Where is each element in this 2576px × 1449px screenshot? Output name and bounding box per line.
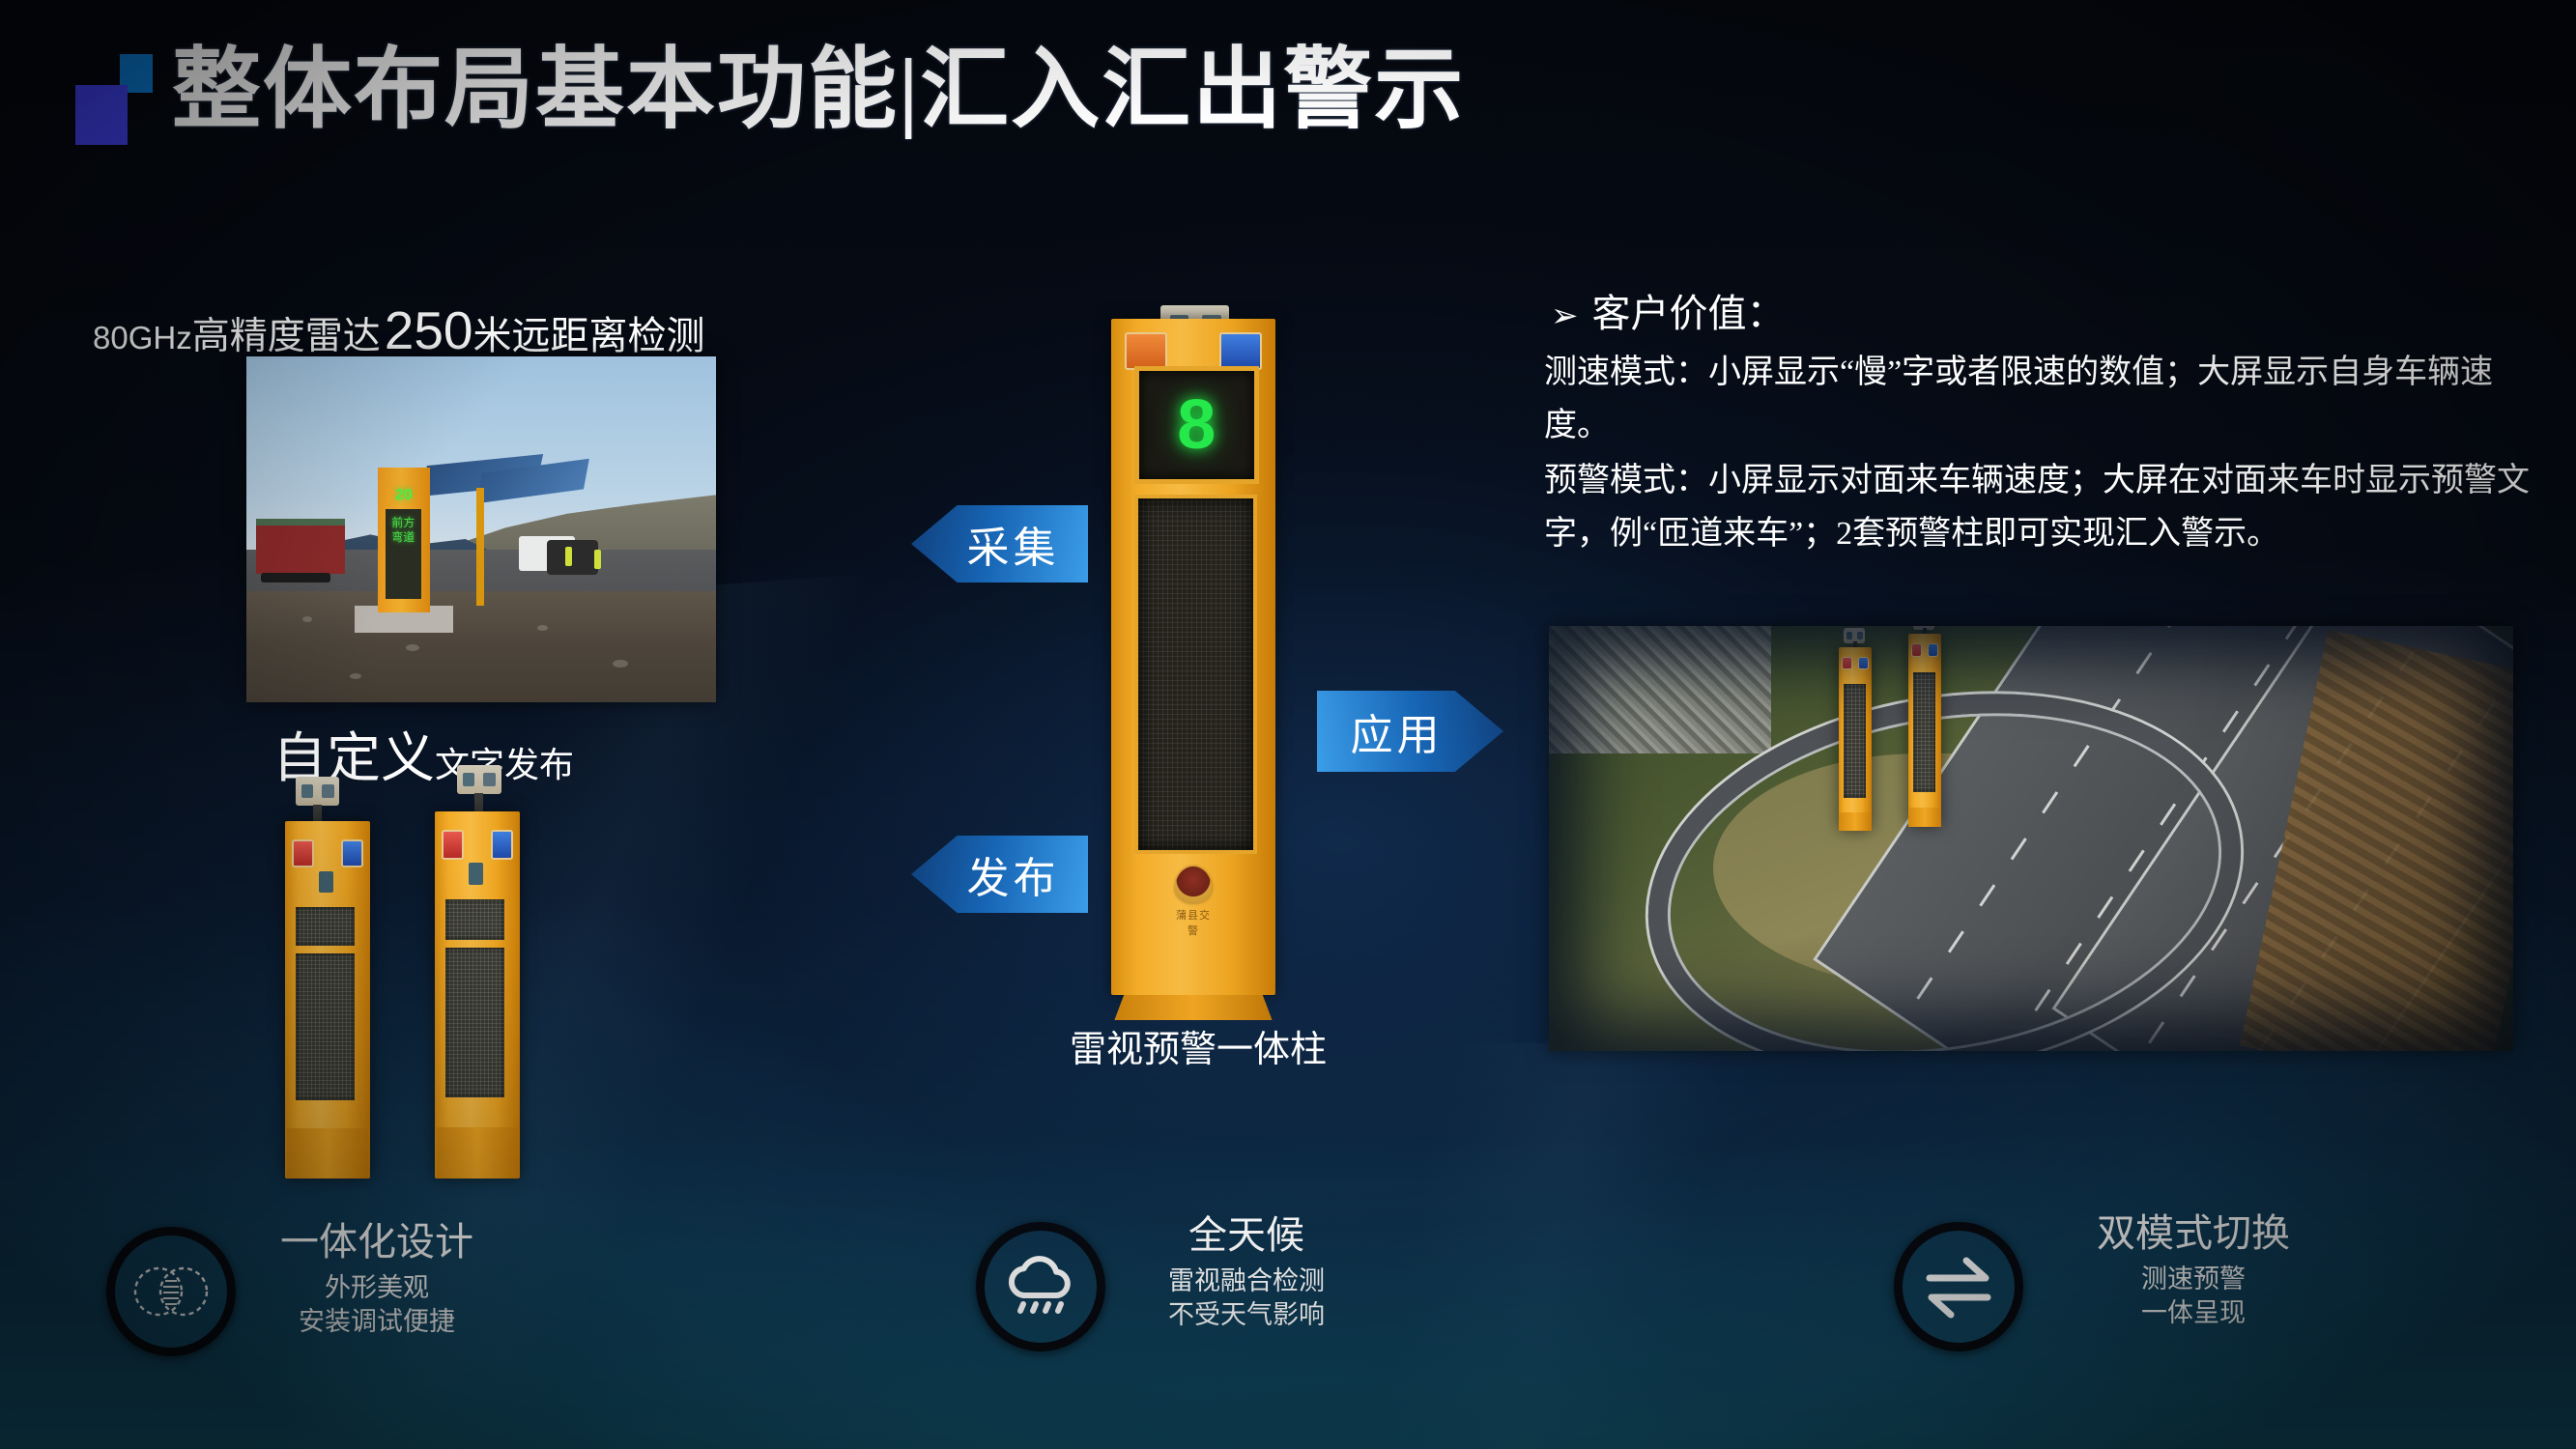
camera-neck — [313, 805, 322, 822]
slide-root: 整体布局基本功能|汇入汇出警示 80GHz高精度雷达 250米远距离检测 20 … — [0, 0, 2576, 1449]
photo-pillar-message: 前方弯道 — [389, 516, 417, 545]
blue-beacon-icon — [491, 830, 513, 860]
photo-dark-car — [547, 540, 598, 575]
large-led-display — [1134, 495, 1257, 854]
led-small-screen — [445, 899, 505, 940]
photo-pillar-speed-value: 20 — [385, 488, 422, 512]
feature-sub-line-2: 一体呈现 — [2029, 1296, 2358, 1330]
camera-neck — [474, 793, 483, 812]
main-pillar-product: 8 蒲县交警 — [1111, 319, 1275, 995]
feature-sub-line-1: 雷视融合检测 — [1102, 1264, 1391, 1298]
aerial-vignette — [1549, 626, 2513, 1051]
feature-title: 全天候 — [1102, 1212, 1391, 1259]
radar-frequency-label: 80GHz — [93, 320, 192, 355]
led-small-screen — [296, 907, 356, 947]
radar-sensor-icon — [319, 871, 333, 893]
page-title-text: 整体布局基本功能|汇入汇出警示 — [172, 35, 1465, 146]
speed-mode-paragraph: 测速模式：小屏显示“慢”字或者限速的数值；大屏显示自身车辆速度。 — [1544, 346, 2530, 452]
pillar-base — [1114, 995, 1272, 1020]
flow-arrow-collect[interactable]: 采集 — [911, 505, 1088, 582]
blue-beacon-icon — [341, 839, 363, 868]
feature-sub-line-2: 安装调试便捷 — [232, 1305, 522, 1339]
led-large-screen — [296, 953, 356, 1100]
radar-distance-label: 米远距离检测 — [473, 314, 705, 357]
radar-sensor-icon — [469, 863, 483, 885]
warning-mode-paragraph: 预警模式：小屏显示对面来车辆速度；大屏在对面来车时显示预警文字，例“匝道来车”；… — [1544, 454, 2530, 560]
blue-beacon-icon — [1219, 332, 1263, 370]
customer-value-heading: ➢客户价值： — [1551, 282, 1786, 338]
main-pillar-caption: 雷视预警一体柱 — [1024, 1019, 1372, 1072]
twin-pillar-left — [285, 821, 370, 1179]
flow-arrow-apply[interactable]: 应用 — [1317, 691, 1503, 772]
radar-distance-value: 250 — [385, 300, 473, 360]
title-square-large-icon — [75, 85, 128, 145]
red-beacon-icon — [292, 839, 314, 868]
camera-ir-icon — [322, 784, 334, 798]
police-emblem: 蒲县交警 — [1172, 867, 1215, 938]
red-beacon-icon — [1125, 332, 1168, 370]
pillar-base — [437, 1127, 518, 1179]
photo-solar-pole — [476, 488, 484, 606]
feature-text-block: 双模式切换 测速预警 一体呈现 — [2029, 1210, 2358, 1329]
flow-arrow-publish-label: 发布 — [967, 843, 1060, 905]
customer-value-title: 客户价值： — [1592, 292, 1786, 335]
venn-circles-icon — [106, 1227, 236, 1356]
rain-cloud-icon — [976, 1222, 1105, 1351]
pillar-base — [287, 1128, 368, 1179]
feature-title: 一体化设计 — [232, 1219, 522, 1265]
feature-text-block: 全天候 雷视融合检测 不受天气影响 — [1102, 1212, 1391, 1331]
flow-arrow-publish[interactable]: 发布 — [911, 836, 1088, 913]
photo-red-truck — [256, 519, 345, 574]
led-large-screen — [445, 948, 505, 1098]
small-led-display: 8 — [1134, 366, 1259, 484]
photo-dirt-ground — [246, 591, 716, 702]
camera-ir-icon — [483, 773, 496, 786]
photo-worker — [594, 550, 601, 569]
camera-head-icon — [457, 765, 501, 794]
red-beacon-icon — [442, 830, 464, 860]
camera-lens-icon — [463, 773, 474, 786]
flow-arrow-apply-label: 应用 — [1351, 700, 1444, 762]
install-site-photo: 20 前方弯道 — [246, 356, 716, 702]
speed-digit-value: 8 — [1139, 371, 1254, 479]
police-badge-text: 蒲县交警 — [1172, 907, 1215, 938]
feature-text-block: 一体化设计 外形美观 安装调试便捷 — [232, 1219, 522, 1338]
police-badge-icon — [1175, 867, 1212, 903]
two-way-exchange-arrows-icon — [1894, 1222, 2023, 1351]
photo-worker — [565, 547, 572, 566]
feature-title: 双模式切换 — [2029, 1210, 2358, 1257]
radar-heading: 80GHz高精度雷达 250米远距离检测 — [93, 299, 705, 361]
bullet-arrow-icon: ➢ — [1551, 298, 1579, 334]
feature-sub-line-1: 测速预警 — [2029, 1263, 2358, 1296]
feature-sub-line-1: 外形美观 — [232, 1271, 522, 1305]
flow-arrow-collect-label: 采集 — [967, 513, 1060, 575]
custom-heading-sub: 文字发布 — [435, 746, 574, 784]
feature-sub-line-2: 不受天气影响 — [1102, 1298, 1391, 1332]
camera-lens-icon — [301, 784, 313, 798]
aerial-interchange-photo — [1549, 626, 2513, 1051]
twin-pillar-right — [435, 811, 520, 1179]
camera-head-icon — [296, 777, 340, 806]
radar-precision-label: 高精度雷达 — [192, 316, 381, 357]
